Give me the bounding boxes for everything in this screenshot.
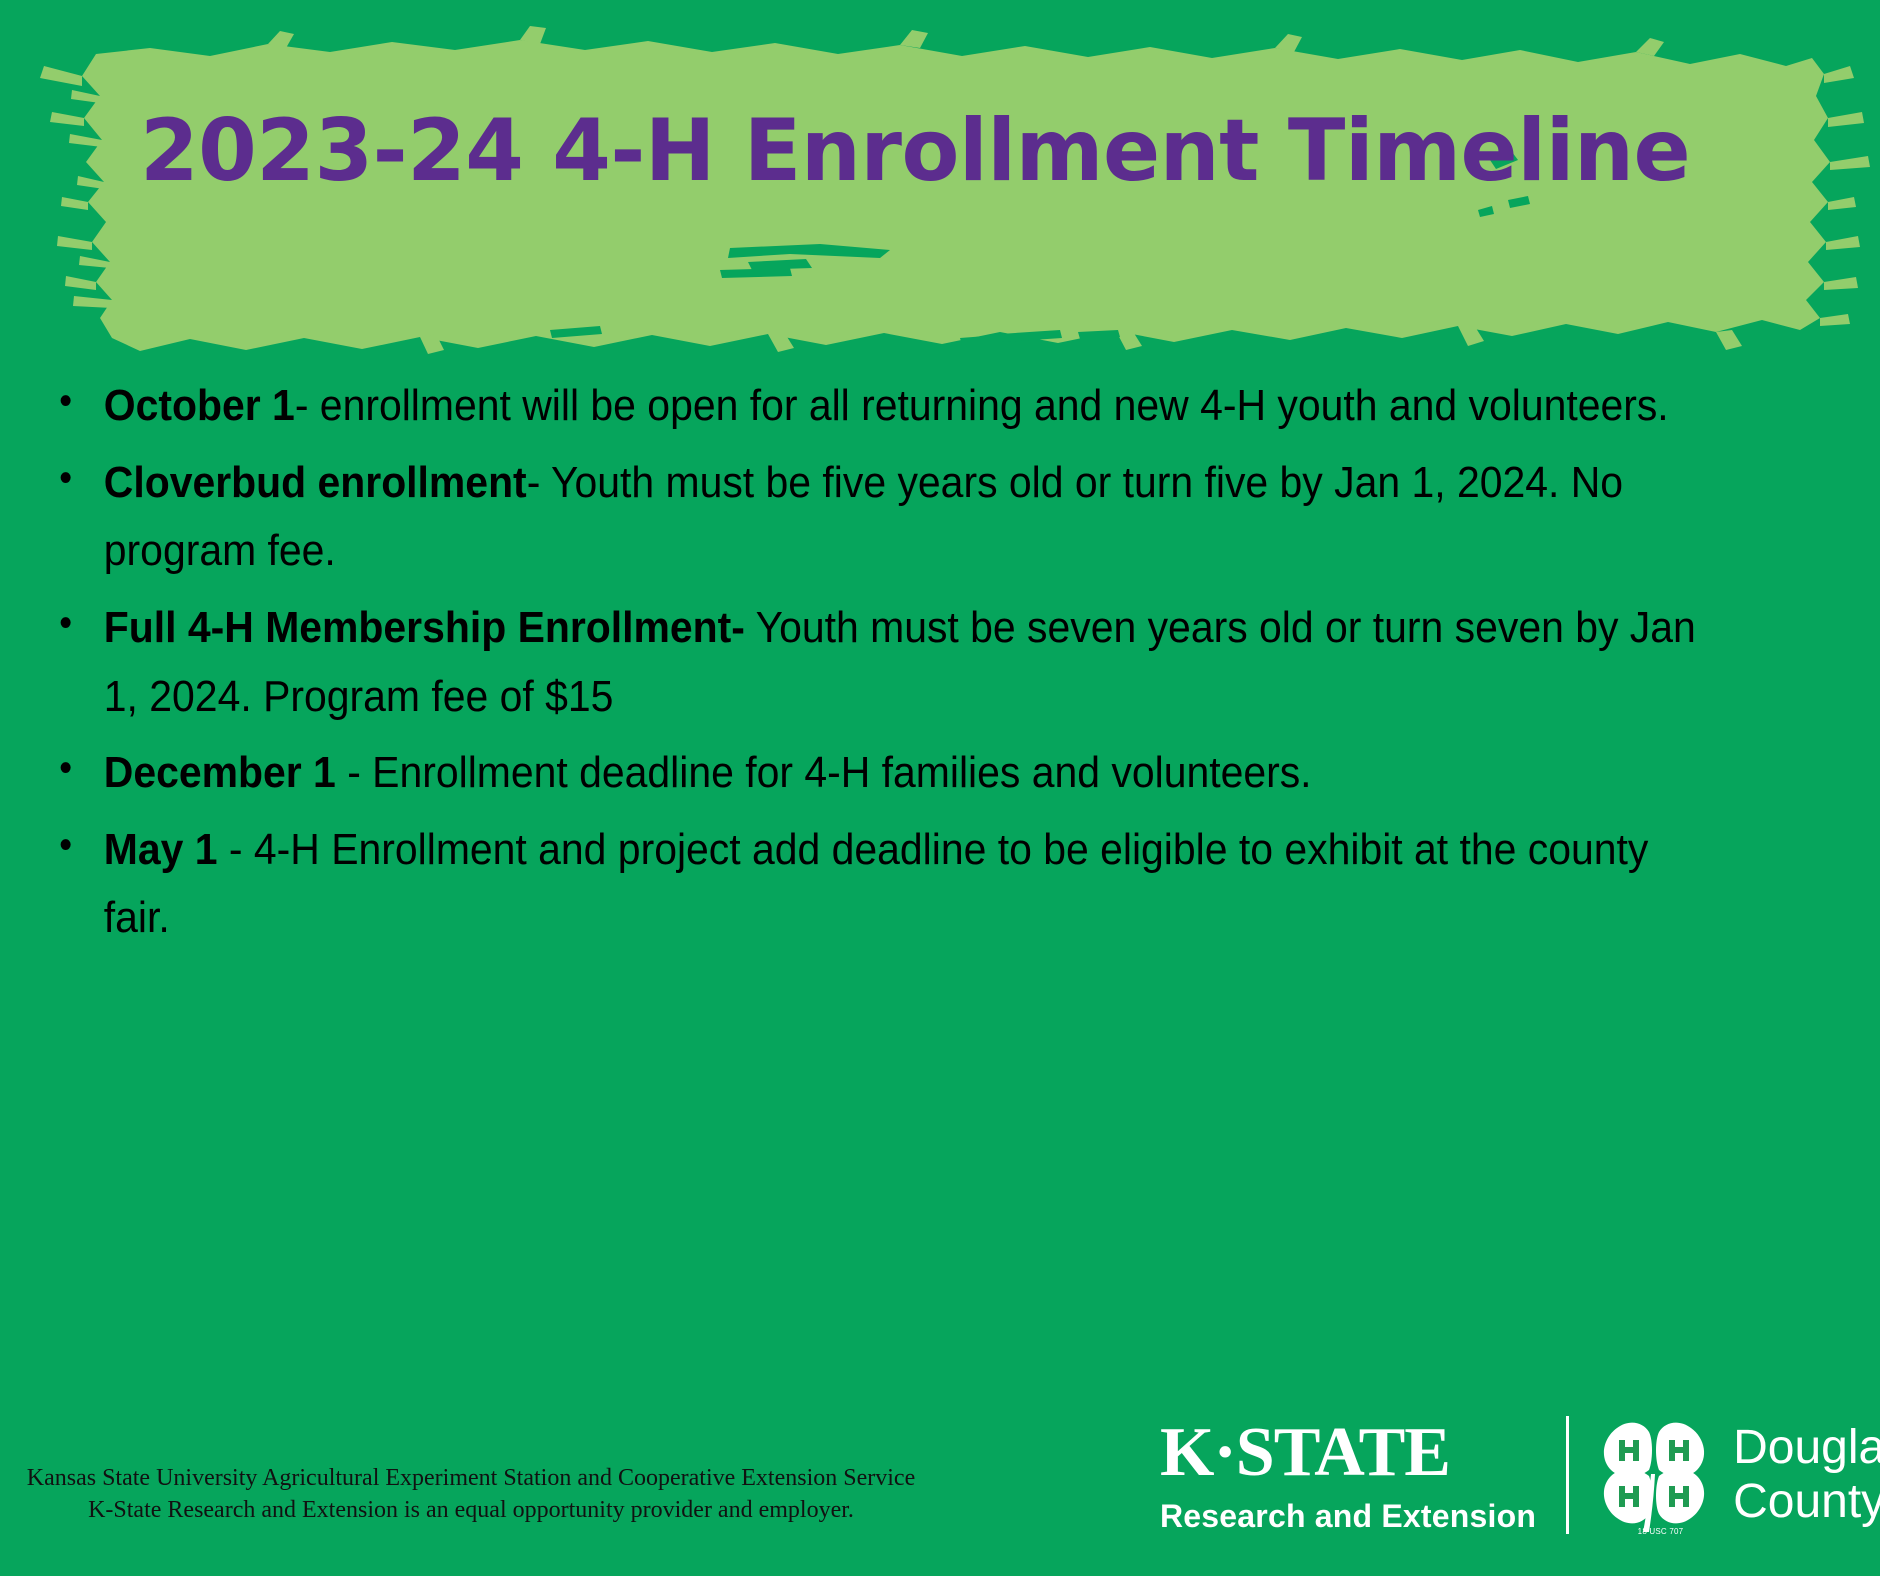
bullet-rest: - Enrollment deadline for 4-H families a… bbox=[336, 748, 1312, 797]
bullet-rest: - enrollment will be open for all return… bbox=[295, 381, 1669, 430]
list-item: December 1 - Enrollment deadline for 4-H… bbox=[48, 739, 1722, 808]
kstate-tagline: Research and Extension bbox=[1160, 1500, 1536, 1532]
logo-row: K·STATE Research and Extension bbox=[1160, 1400, 1880, 1550]
page-title: 2023-24 4-H Enrollment Timeline bbox=[140, 108, 1669, 194]
four-h-clover-logo: 18 USC 707 bbox=[1595, 1412, 1713, 1538]
county-name: Douglas County bbox=[1733, 1421, 1880, 1529]
enrollment-timeline-list: October 1- enrollment will be open for a… bbox=[48, 372, 1848, 961]
kstate-wordmark: K·STATE bbox=[1160, 1418, 1536, 1488]
list-item: October 1- enrollment will be open for a… bbox=[48, 372, 1722, 441]
list-item: Full 4-H Membership Enrollment- Youth mu… bbox=[48, 594, 1722, 731]
disclaimer-line-1: Kansas State University Agricultural Exp… bbox=[26, 1462, 916, 1494]
equal-opportunity-disclaimer: Kansas State University Agricultural Exp… bbox=[26, 1462, 916, 1526]
bullet-lead: Full 4-H Membership Enrollment- bbox=[104, 603, 745, 652]
bullet-rest: - 4-H Enrollment and project add deadlin… bbox=[104, 825, 1649, 943]
bullet-lead: Cloverbud enrollment bbox=[104, 458, 527, 507]
bullet-lead: December 1 bbox=[104, 748, 336, 797]
kstate-logo: K·STATE Research and Extension bbox=[1160, 1418, 1536, 1532]
list-item: Cloverbud enrollment- Youth must be five… bbox=[48, 449, 1722, 586]
title-banner: 2023-24 4-H Enrollment Timeline bbox=[0, 0, 1880, 360]
bullet-lead: May 1 bbox=[104, 825, 218, 874]
county-line-1: Douglas bbox=[1733, 1421, 1880, 1475]
list-item: May 1 - 4-H Enrollment and project add d… bbox=[48, 816, 1722, 953]
county-line-2: County bbox=[1733, 1475, 1880, 1529]
clover-legal-text: 18 USC 707 bbox=[1638, 1527, 1684, 1536]
bullet-lead: October 1 bbox=[104, 381, 295, 430]
four-h-clover-icon bbox=[1595, 1412, 1713, 1538]
logo-divider bbox=[1566, 1416, 1569, 1534]
disclaimer-line-2: K-State Research and Extension is an equ… bbox=[26, 1494, 916, 1526]
